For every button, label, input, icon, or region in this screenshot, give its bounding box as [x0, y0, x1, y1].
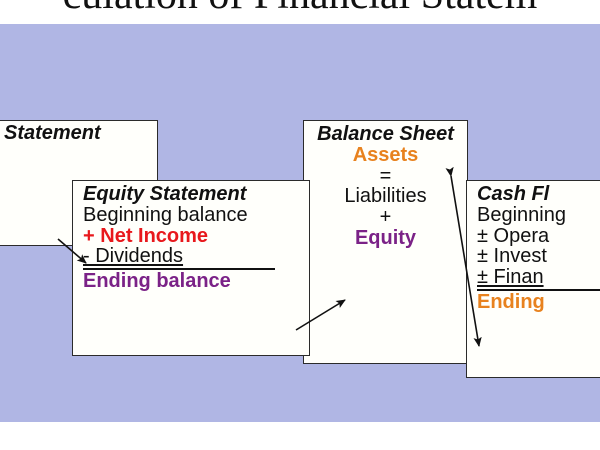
- balance-sheet-plus: +: [304, 207, 467, 228]
- slide-bottom-margin: [0, 422, 600, 450]
- equity-statement-net-income: Net Income: [100, 225, 208, 247]
- balance-sheet-title: Balance Sheet: [304, 124, 467, 145]
- cash-flow-financing: ± Finan: [477, 267, 600, 288]
- income-statement-revenue: ue: [0, 144, 157, 165]
- equity-statement-beginning-balance: Beginning balance: [83, 205, 309, 226]
- balance-sheet-equity: Equity: [304, 228, 467, 249]
- cash-flow-beginning: Beginning: [477, 205, 600, 226]
- slide-canvas: culation of Financial Statem e Statement…: [0, 0, 600, 450]
- equity-statement-ending-balance: Ending balance: [83, 271, 309, 292]
- equity-statement-box: Equity Statement Beginning balance + Net…: [72, 180, 310, 356]
- equity-statement-net-income-sign: +: [83, 225, 95, 247]
- cash-flow-ending: Ending: [477, 292, 600, 313]
- balance-sheet-liabilities: Liabilities: [304, 186, 467, 207]
- equity-statement-dividends: - Dividends: [83, 246, 309, 267]
- cash-flow-title: Cash Fl: [477, 184, 600, 205]
- cash-flow-operating: ± Opera: [477, 226, 600, 247]
- slide-title: culation of Financial Statem: [0, 0, 600, 19]
- balance-sheet-assets: Assets: [304, 145, 467, 166]
- income-statement-title: e Statement: [0, 123, 149, 144]
- balance-sheet-box: Balance Sheet Assets = Liabilities + Equ…: [303, 120, 468, 364]
- cash-flow-box: Cash Fl Beginning ± Opera ± Invest ± Fin…: [466, 180, 600, 378]
- equity-statement-title: Equity Statement: [83, 184, 309, 205]
- cash-flow-investing: ± Invest: [477, 246, 600, 267]
- equity-statement-net-income-row: + Net Income: [83, 226, 309, 247]
- balance-sheet-equals: =: [304, 166, 467, 187]
